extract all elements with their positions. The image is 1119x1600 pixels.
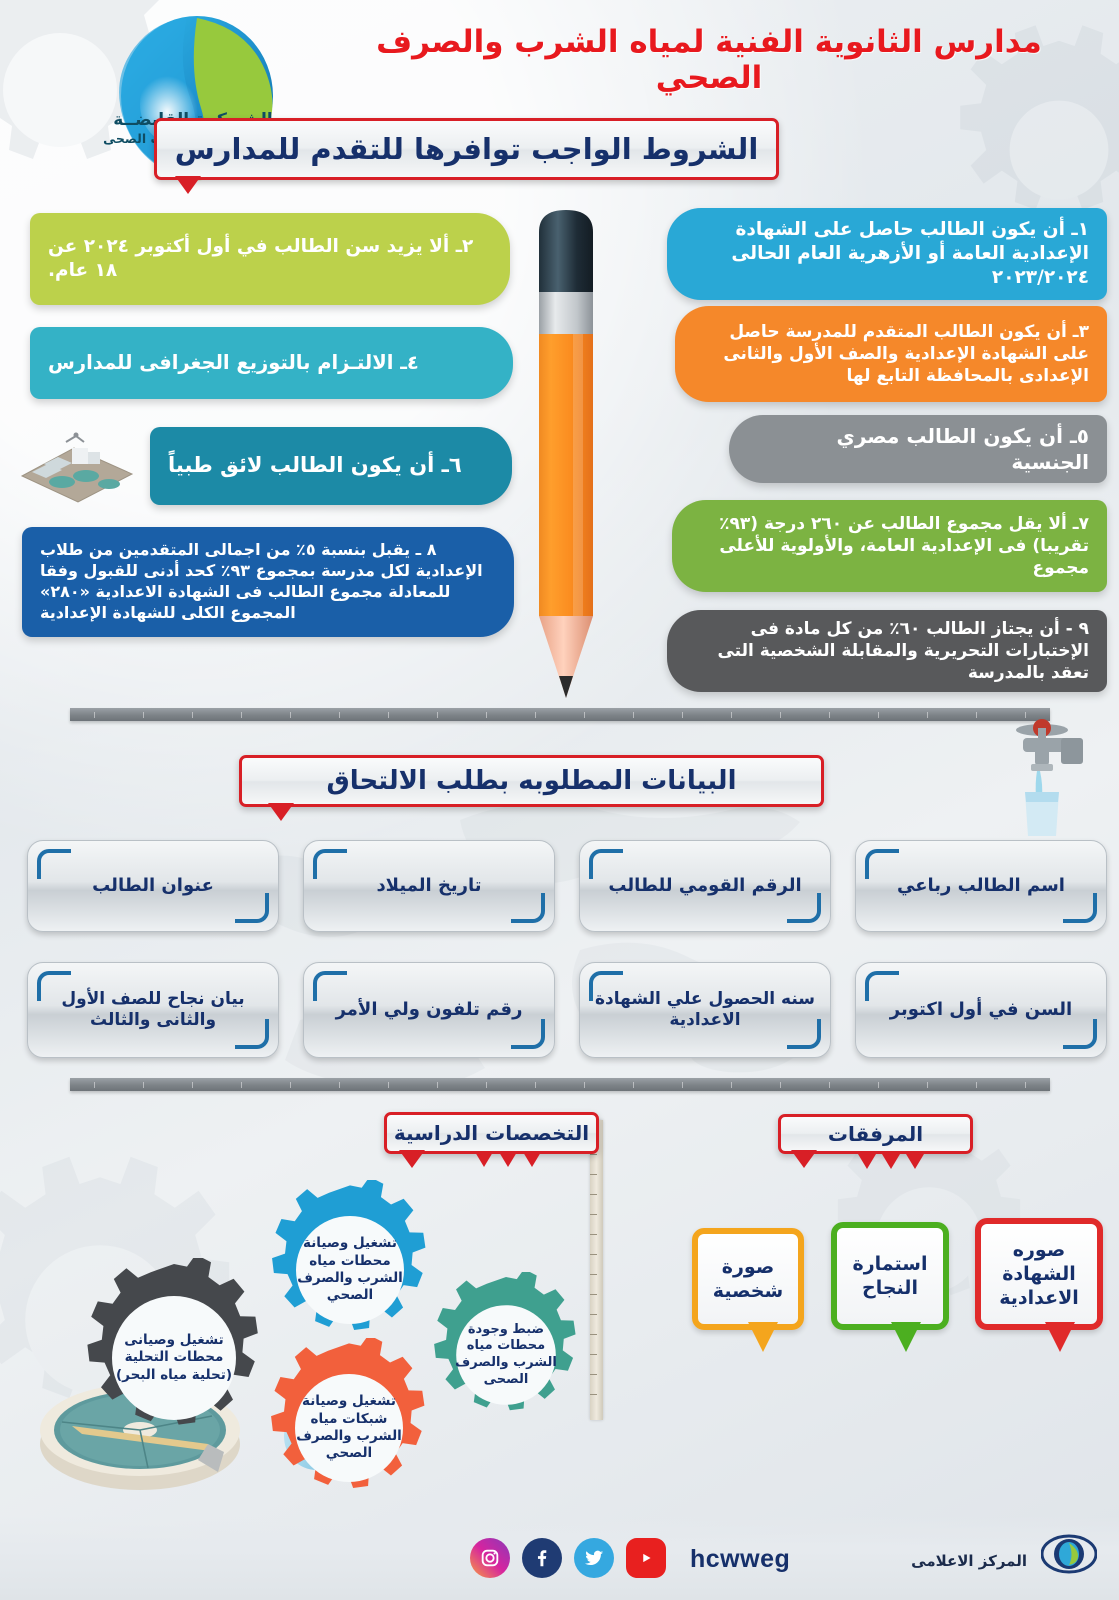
data-chip-label: اسم الطالب رباعي xyxy=(897,875,1065,898)
data-chip-label: تاريخ الميلاد xyxy=(376,875,481,898)
attachments-banner-label: المرفقات xyxy=(828,1122,923,1146)
facebook-icon[interactable] xyxy=(522,1538,562,1578)
specialization-gear-desalination[interactable]: تشغيل وصيانى محطات التحلية (تحلية مياه ا… xyxy=(74,1258,274,1458)
bubble-tail xyxy=(891,1322,921,1352)
condition-8: ٨ ـ يقبل بنسبة ٥٪ من اجمالى المتقدمين من… xyxy=(22,527,514,637)
media-center-label: المركز الاعلامى xyxy=(911,1552,1027,1570)
required-data-banner-label: البيانات المطلوبه بطلب الالتحاق xyxy=(327,766,737,796)
condition-4: ٤ـ الالتـزام بالتوزيع الجغرافى للمدارس xyxy=(30,327,513,399)
condition-7: ٧ـ ألا يقل مجموع الطالب عن ٢٦٠ درجة (٩٣٪… xyxy=(672,500,1107,592)
ribbon-tail xyxy=(399,1150,425,1168)
data-chip-label: عنوان الطالب xyxy=(92,875,214,898)
attachment-label: استمارة النجاح xyxy=(845,1252,935,1301)
condition-2: ٢ـ ألا يزيد سن الطالب في أول أكتوبر ٢٠٢٤… xyxy=(30,213,510,305)
bubble-tail xyxy=(1045,1322,1075,1352)
specialization-label: تشغيل وصيانى محطات التحلية (تحلية مياه ا… xyxy=(74,1258,274,1458)
page-title: مدارس الثانوية الفنية لمياه الشرب والصرف… xyxy=(319,24,1099,96)
data-chip-label: السن في أول اكتوبر xyxy=(890,999,1072,1022)
youtube-icon[interactable] xyxy=(626,1538,666,1578)
social-links xyxy=(470,1538,666,1578)
condition-3-text: ٣ـ أن يكون الطالب المتقدم للمدرسة حاصل ع… xyxy=(701,321,1089,387)
data-chip-address[interactable]: عنوان الطالب xyxy=(27,840,279,932)
attachment-certificate-photo[interactable]: صوره الشهادة الاعدادية xyxy=(975,1218,1103,1330)
condition-9: ٩ - أن يجتاز الطالب ٦٠٪ من كل مادة فى ال… xyxy=(667,610,1107,692)
social-handle: hcwweg xyxy=(690,1545,790,1574)
specialization-gear-plants[interactable]: تشغيل وصيانة محطات مياه الشرب والصرف الص… xyxy=(260,1180,440,1360)
footer: hcwweg المركز الاعلامى xyxy=(0,1516,1119,1600)
specialization-label: تشغيل وصيانة محطات مياه الشرب والصرف الص… xyxy=(260,1180,440,1360)
specializations-banner: التخصصات الدراسية xyxy=(384,1112,599,1154)
divider-ruler-mid xyxy=(70,1078,1050,1091)
water-treatment-plant-icon xyxy=(14,432,139,504)
condition-5: ٥ـ أن يكون الطالب مصري الجنسية xyxy=(729,415,1107,483)
pencil-illustration xyxy=(533,206,599,706)
attachments-banner: المرفقات xyxy=(778,1114,973,1154)
ruler-ticks xyxy=(70,708,1050,721)
data-chip-national-id[interactable]: الرقم القومي للطالب xyxy=(579,840,831,932)
data-chip-age-october[interactable]: السن في أول اكتوبر xyxy=(855,962,1107,1058)
condition-1: ١ـ أن يكون الطالب حاصل على الشهادة الإعد… xyxy=(667,208,1107,300)
data-chip-certificate-year[interactable]: سنه الحصول علي الشهادة الاعدادية xyxy=(579,962,831,1058)
condition-8-text: ٨ ـ يقبل بنسبة ٥٪ من اجمالى المتقدمين من… xyxy=(40,540,488,623)
condition-4-text: ٤ـ الالتـزام بالتوزيع الجغرافى للمدارس xyxy=(48,350,487,375)
data-chip-success-statement[interactable]: بيان نجاح للصف الأول والثانى والثالث xyxy=(27,962,279,1058)
instagram-icon[interactable] xyxy=(470,1538,510,1578)
condition-5-text: ٥ـ أن يكون الطالب مصري الجنسية xyxy=(755,423,1089,475)
condition-7-text: ٧ـ ألا يقل مجموع الطالب عن ٢٦٠ درجة (٩٣٪… xyxy=(698,513,1089,579)
condition-1-text: ١ـ أن يكون الطالب حاصل على الشهادة الإعد… xyxy=(693,218,1089,290)
attachment-success-form[interactable]: استمارة النجاح xyxy=(831,1222,949,1330)
required-data-banner: البيانات المطلوبه بطلب الالتحاق xyxy=(239,755,824,807)
ribbon-tail xyxy=(175,176,201,194)
attachment-label: صورة شخصية xyxy=(706,1255,790,1304)
vertical-ruler xyxy=(590,1120,603,1420)
twitter-icon[interactable] xyxy=(574,1538,614,1578)
data-chip-label: رقم تلفون ولي الأمر xyxy=(336,999,523,1022)
conditions-banner-label: الشروط الواجب توافرها للتقدم للمدارس xyxy=(175,132,759,166)
specialization-gear-quality[interactable]: ضبط وجودة محطات مياه الشرب والصرف الصحى xyxy=(423,1272,589,1438)
condition-3: ٣ـ أن يكون الطالب المتقدم للمدرسة حاصل ع… xyxy=(675,306,1107,402)
condition-6-text: ٦ـ أن يكون الطالب لائق طبياً xyxy=(168,452,486,479)
specialization-label: ضبط وجودة محطات مياه الشرب والصرف الصحى xyxy=(423,1272,589,1438)
bubble-tail xyxy=(748,1322,778,1352)
ribbon-tail xyxy=(268,803,294,821)
faucet-with-glass-icon xyxy=(995,700,1105,840)
data-chip-label: الرقم القومي للطالب xyxy=(608,875,801,898)
ribbon-tail xyxy=(791,1150,817,1168)
conditions-banner: الشروط الواجب توافرها للتقدم للمدارس xyxy=(154,118,779,180)
divider-ruler-top xyxy=(70,708,1050,721)
specializations-banner-label: التخصصات الدراسية xyxy=(394,1121,589,1145)
data-chip-birth-date[interactable]: تاريخ الميلاد xyxy=(303,840,555,932)
condition-2-text: ٢ـ ألا يزيد سن الطالب في أول أكتوبر ٢٠٢٤… xyxy=(48,235,484,283)
ruler-ticks xyxy=(70,1078,1050,1091)
data-chip-label: سنه الحصول علي الشهادة الاعدادية xyxy=(594,989,816,1032)
specialization-gear-networks[interactable]: تشغيل وصيانة شبكات مياه الشرب والصرف الص… xyxy=(259,1338,439,1518)
condition-9-text: ٩ - أن يجتاز الطالب ٦٠٪ من كل مادة فى ال… xyxy=(693,618,1089,684)
data-chip-label: بيان نجاح للصف الأول والثانى والثالث xyxy=(42,989,264,1032)
attachment-label: صوره الشهادة الاعدادية xyxy=(989,1238,1089,1311)
specializations-arrows xyxy=(475,1152,541,1167)
data-chip-student-name[interactable]: اسم الطالب رباعي xyxy=(855,840,1107,932)
specialization-label: تشغيل وصيانة شبكات مياه الشرب والصرف الص… xyxy=(259,1338,439,1518)
condition-6: ٦ـ أن يكون الطالب لائق طبياً xyxy=(150,427,512,505)
data-chip-guardian-phone[interactable]: رقم تلفون ولي الأمر xyxy=(303,962,555,1058)
attachments-arrows xyxy=(858,1154,924,1169)
attachment-personal-photo[interactable]: صورة شخصية xyxy=(692,1228,804,1330)
media-center-logo xyxy=(1041,1526,1097,1582)
